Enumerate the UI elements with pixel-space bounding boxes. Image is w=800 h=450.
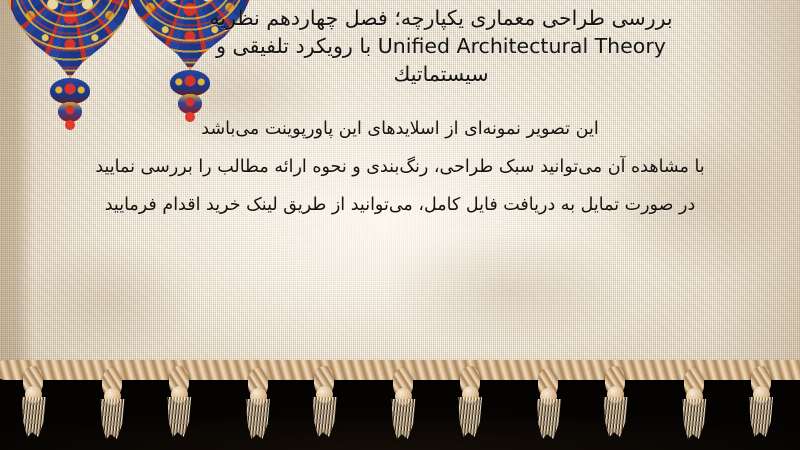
tassel [598, 366, 632, 436]
tassel [453, 366, 487, 436]
tassel-skirt [535, 399, 562, 439]
tassel [162, 366, 196, 436]
tassel [241, 368, 275, 438]
heading-line-2-persian: با رویکرد تلفیقی و [216, 34, 371, 58]
tassel-skirt [99, 399, 126, 439]
body-line-3: در صورت تمایل به دریافت فایل کامل، می‌تو… [0, 186, 800, 224]
heading-line-2-latin: Unified Architectural Theory [378, 34, 666, 58]
slide-canvas: بررسی طراحی معماری یکپارچه؛ فصل چهاردهم … [0, 0, 800, 450]
tassel-skirt [166, 397, 193, 437]
tassel [95, 368, 129, 438]
tassel [744, 366, 778, 436]
heading-line-2: Unified Architectural Theory با رویکرد ت… [96, 32, 786, 60]
tassel-skirt [602, 397, 629, 437]
slide-heading: بررسی طراحی معماری یکپارچه؛ فصل چهاردهم … [96, 4, 786, 88]
body-line-2: با مشاهده آن می‌توانید سبک طراحی، رنگ‌بن… [0, 148, 800, 186]
tassel [677, 368, 711, 438]
slide-body-text: این تصویر نمونه‌ای از اسلایدهای این پاور… [0, 110, 800, 224]
body-line-1: این تصویر نمونه‌ای از اسلایدهای این پاور… [0, 110, 800, 148]
heading-line-3: سیستماتیك [96, 60, 786, 88]
tassel [307, 366, 341, 436]
tassel-skirt [311, 397, 338, 437]
tassel [16, 366, 50, 436]
tassel [531, 368, 565, 438]
tassel-skirt [390, 399, 417, 439]
tassel [386, 368, 420, 438]
heading-line-1: بررسی طراحی معماری یکپارچه؛ فصل چهاردهم … [96, 4, 786, 32]
tassel-skirt [748, 397, 775, 437]
tassel-skirt [20, 397, 47, 437]
tassel-skirt [245, 399, 272, 439]
tassel-skirt [457, 397, 484, 437]
tassel-skirt [681, 399, 708, 439]
text-layer: بررسی طراحی معماری یکپارچه؛ فصل چهاردهم … [0, 0, 800, 382]
